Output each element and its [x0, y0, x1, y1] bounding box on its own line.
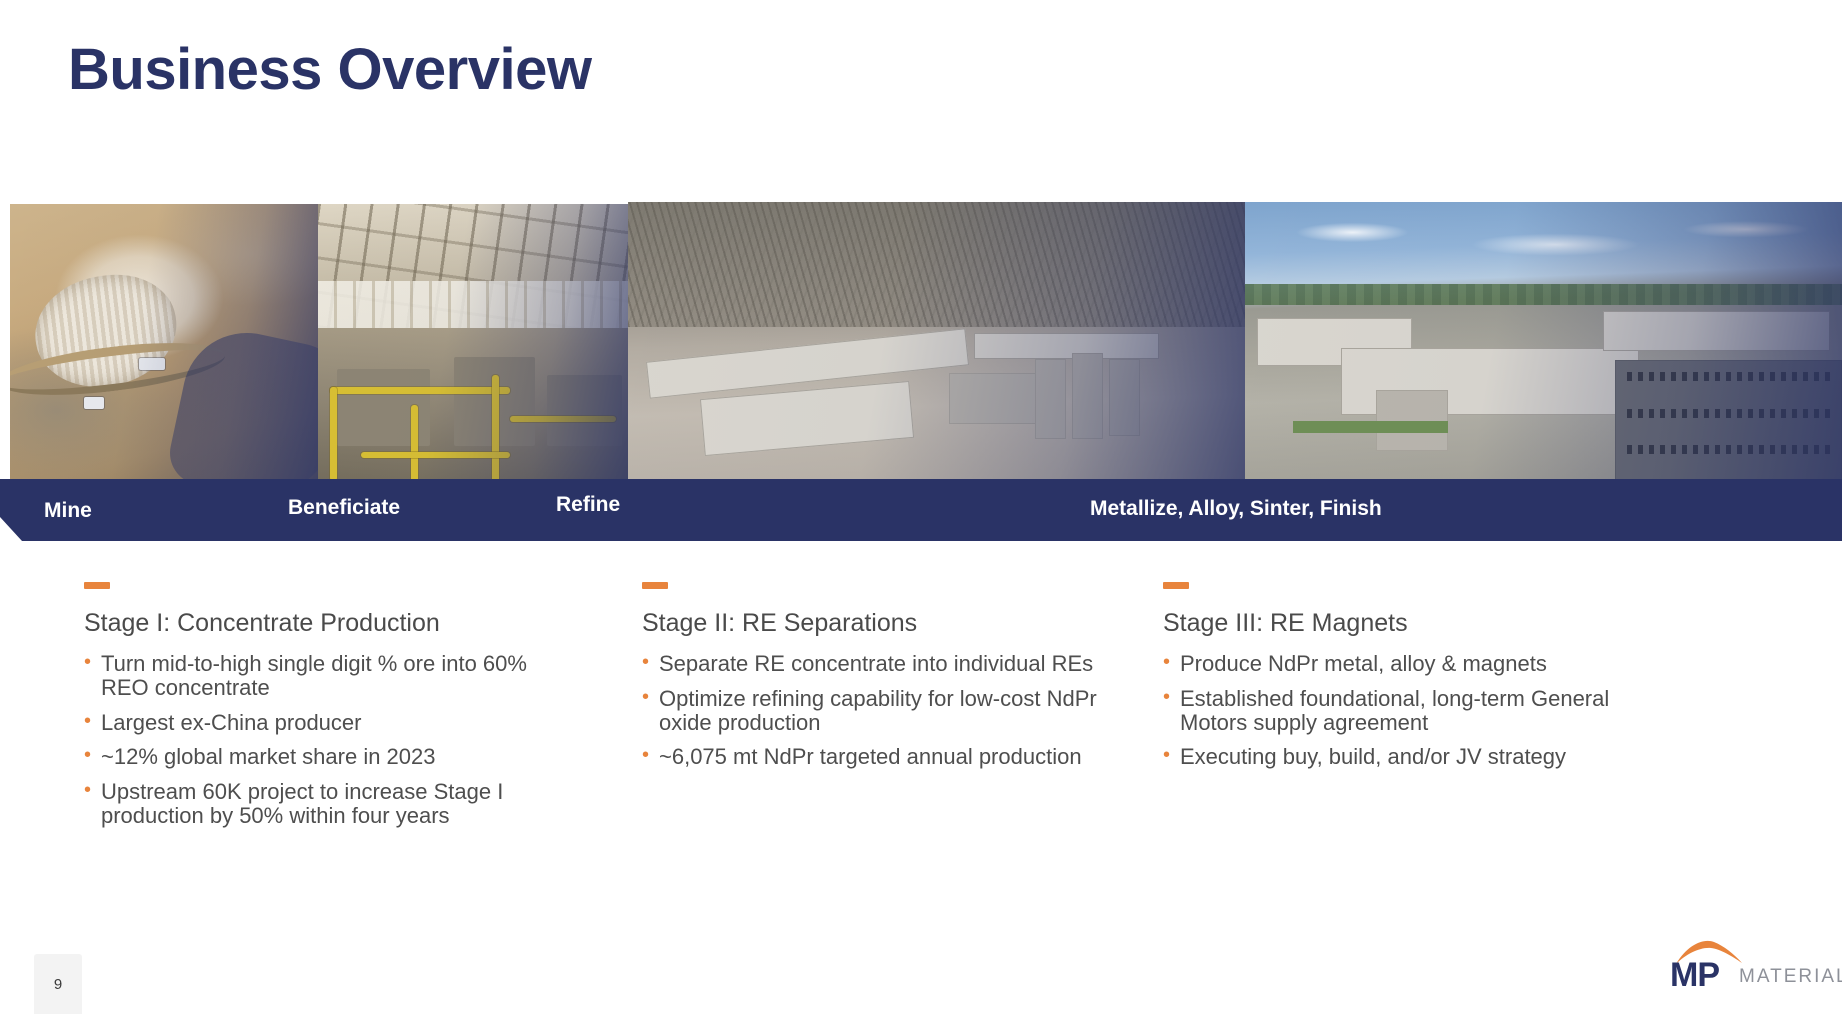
orange-dash-accent — [642, 582, 668, 589]
navy-gradient-overlay — [10, 204, 318, 479]
page-title: Business Overview — [68, 36, 591, 103]
stage-column-2: Stage II: RE Separations Separate RE con… — [642, 582, 1112, 780]
list-item: Optimize refining capability for low-cos… — [642, 687, 1112, 735]
stage-heading-2: Stage II: RE Separations — [642, 609, 1112, 638]
stage-columns: Stage I: Concentrate Production Turn mid… — [0, 582, 1842, 902]
page-number: 9 — [34, 976, 82, 993]
stage-bullets-3: Produce NdPr metal, alloy & magnets Esta… — [1163, 652, 1633, 769]
list-item: Produce NdPr metal, alloy & magnets — [1163, 652, 1633, 676]
stage-bullets-1: Turn mid-to-high single digit % ore into… — [84, 652, 554, 828]
orange-dash-accent — [84, 582, 110, 589]
process-label-beneficiate: Beneficiate — [288, 496, 400, 520]
mp-materials-logo: MP MATERIALS — [1662, 938, 1822, 994]
process-photo-mine — [10, 204, 318, 479]
list-item: Separate RE concentrate into individual … — [642, 652, 1112, 676]
process-label-metallize: Metallize, Alloy, Sinter, Finish — [1090, 497, 1382, 521]
list-item: Executing buy, build, and/or JV strategy — [1163, 745, 1633, 769]
stage-heading-1: Stage I: Concentrate Production — [84, 609, 554, 638]
process-label-refine: Refine — [556, 493, 620, 517]
list-item: Established foundational, long-term Gene… — [1163, 687, 1633, 735]
list-item: Upstream 60K project to increase Stage I… — [84, 780, 554, 828]
orange-dash-accent — [1163, 582, 1189, 589]
process-photo-refine — [628, 202, 1245, 487]
list-item: ~6,075 mt NdPr targeted annual productio… — [642, 745, 1112, 769]
process-photo-metallize — [1245, 202, 1842, 506]
stage-bullets-2: Separate RE concentrate into individual … — [642, 652, 1112, 769]
logo-wordmark: MATERIALS — [1739, 967, 1842, 986]
stage-column-1: Stage I: Concentrate Production Turn mid… — [84, 582, 554, 839]
slide-canvas: Business Overview — [0, 0, 1842, 1014]
process-label-band — [0, 479, 1842, 541]
process-photo-beneficiate — [318, 204, 628, 499]
list-item: Turn mid-to-high single digit % ore into… — [84, 652, 554, 700]
list-item: ~12% global market share in 2023 — [84, 745, 554, 769]
stage-column-3: Stage III: RE Magnets Produce NdPr metal… — [1163, 582, 1633, 780]
navy-gradient-overlay — [628, 202, 1245, 487]
logo-mark: MP — [1670, 958, 1719, 992]
stage-heading-3: Stage III: RE Magnets — [1163, 609, 1633, 638]
navy-gradient-overlay — [1245, 202, 1842, 506]
navy-gradient-overlay — [318, 204, 628, 499]
process-label-mine: Mine — [44, 499, 92, 523]
list-item: Largest ex-China producer — [84, 711, 554, 735]
